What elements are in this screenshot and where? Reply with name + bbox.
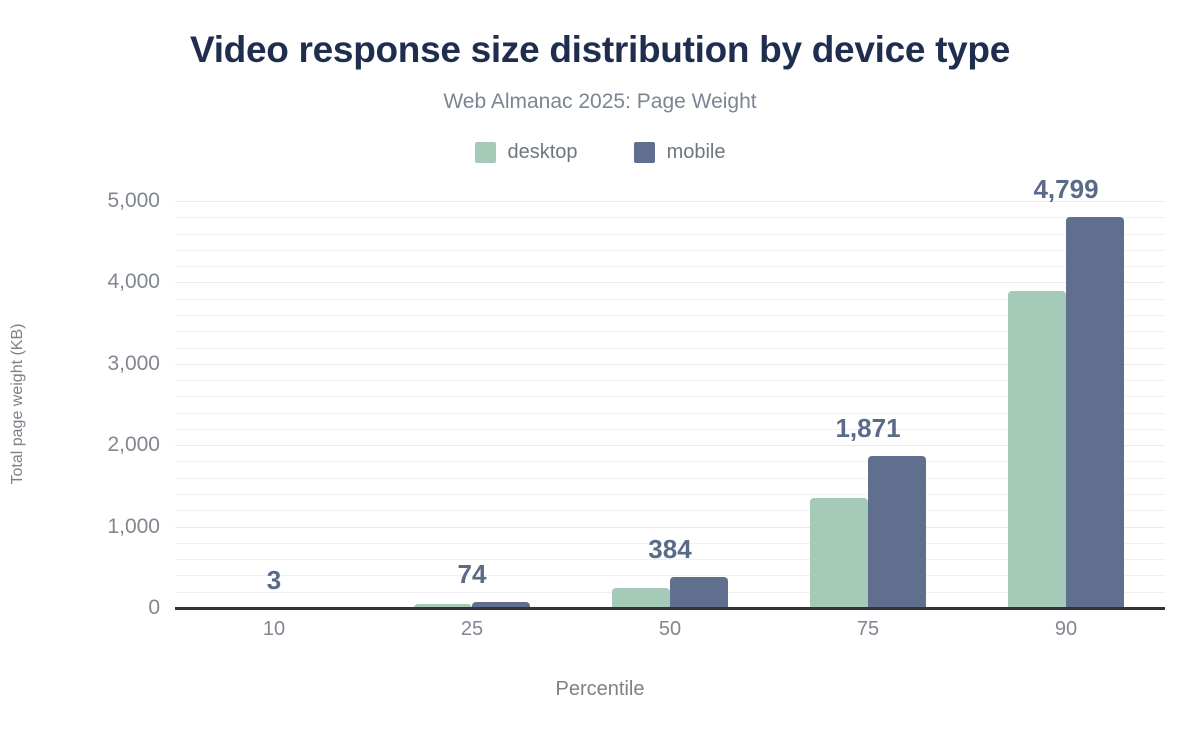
bar-group-p75: 1,871: [769, 201, 967, 608]
y-axis-tick-label: 1,000: [35, 515, 160, 539]
bar-desktop-p50[interactable]: [612, 588, 670, 608]
bar-mobile-p50[interactable]: [670, 577, 728, 608]
chart-container: Video response size distribution by devi…: [0, 0, 1200, 742]
x-axis-ticks: 1025507590: [175, 618, 1165, 648]
bar-mobile-p90[interactable]: [1066, 217, 1124, 608]
x-axis-tick-label-50: 50: [571, 618, 769, 648]
y-axis-tick-label: 4,000: [35, 270, 160, 294]
bar-value-label-p50: 384: [648, 534, 691, 565]
x-axis-tick-label-75: 75: [769, 618, 967, 648]
y-axis-tick-label: 3,000: [35, 352, 160, 376]
bar-mobile-p75[interactable]: [868, 456, 926, 608]
bar-desktop-p90[interactable]: [1008, 291, 1066, 608]
x-axis-line: [175, 607, 1165, 610]
bar-group-p25: 74: [373, 201, 571, 608]
bar-value-label-p25: 74: [458, 559, 487, 590]
bar-group-p10: 3: [175, 201, 373, 608]
x-axis-tick-label-90: 90: [967, 618, 1165, 648]
bar-value-label-p10: 3: [267, 565, 281, 596]
bar-groups: 3743841,8714,799: [175, 201, 1165, 608]
bar-group-p50: 384: [571, 201, 769, 608]
bar-value-label-p75: 1,871: [835, 413, 900, 444]
y-axis-tick-label: 0: [35, 596, 160, 620]
x-axis-tick-label-25: 25: [373, 618, 571, 648]
y-axis-tick-label: 2,000: [35, 433, 160, 457]
y-axis-title: Total page weight (KB): [9, 324, 27, 485]
y-axis-tick-label: 5,000: [35, 189, 160, 213]
bar-group-p90: 4,799: [967, 201, 1165, 608]
x-axis-title: Percentile: [0, 678, 1200, 701]
x-axis-tick-label-10: 10: [175, 618, 373, 648]
bar-desktop-p75[interactable]: [810, 498, 868, 608]
